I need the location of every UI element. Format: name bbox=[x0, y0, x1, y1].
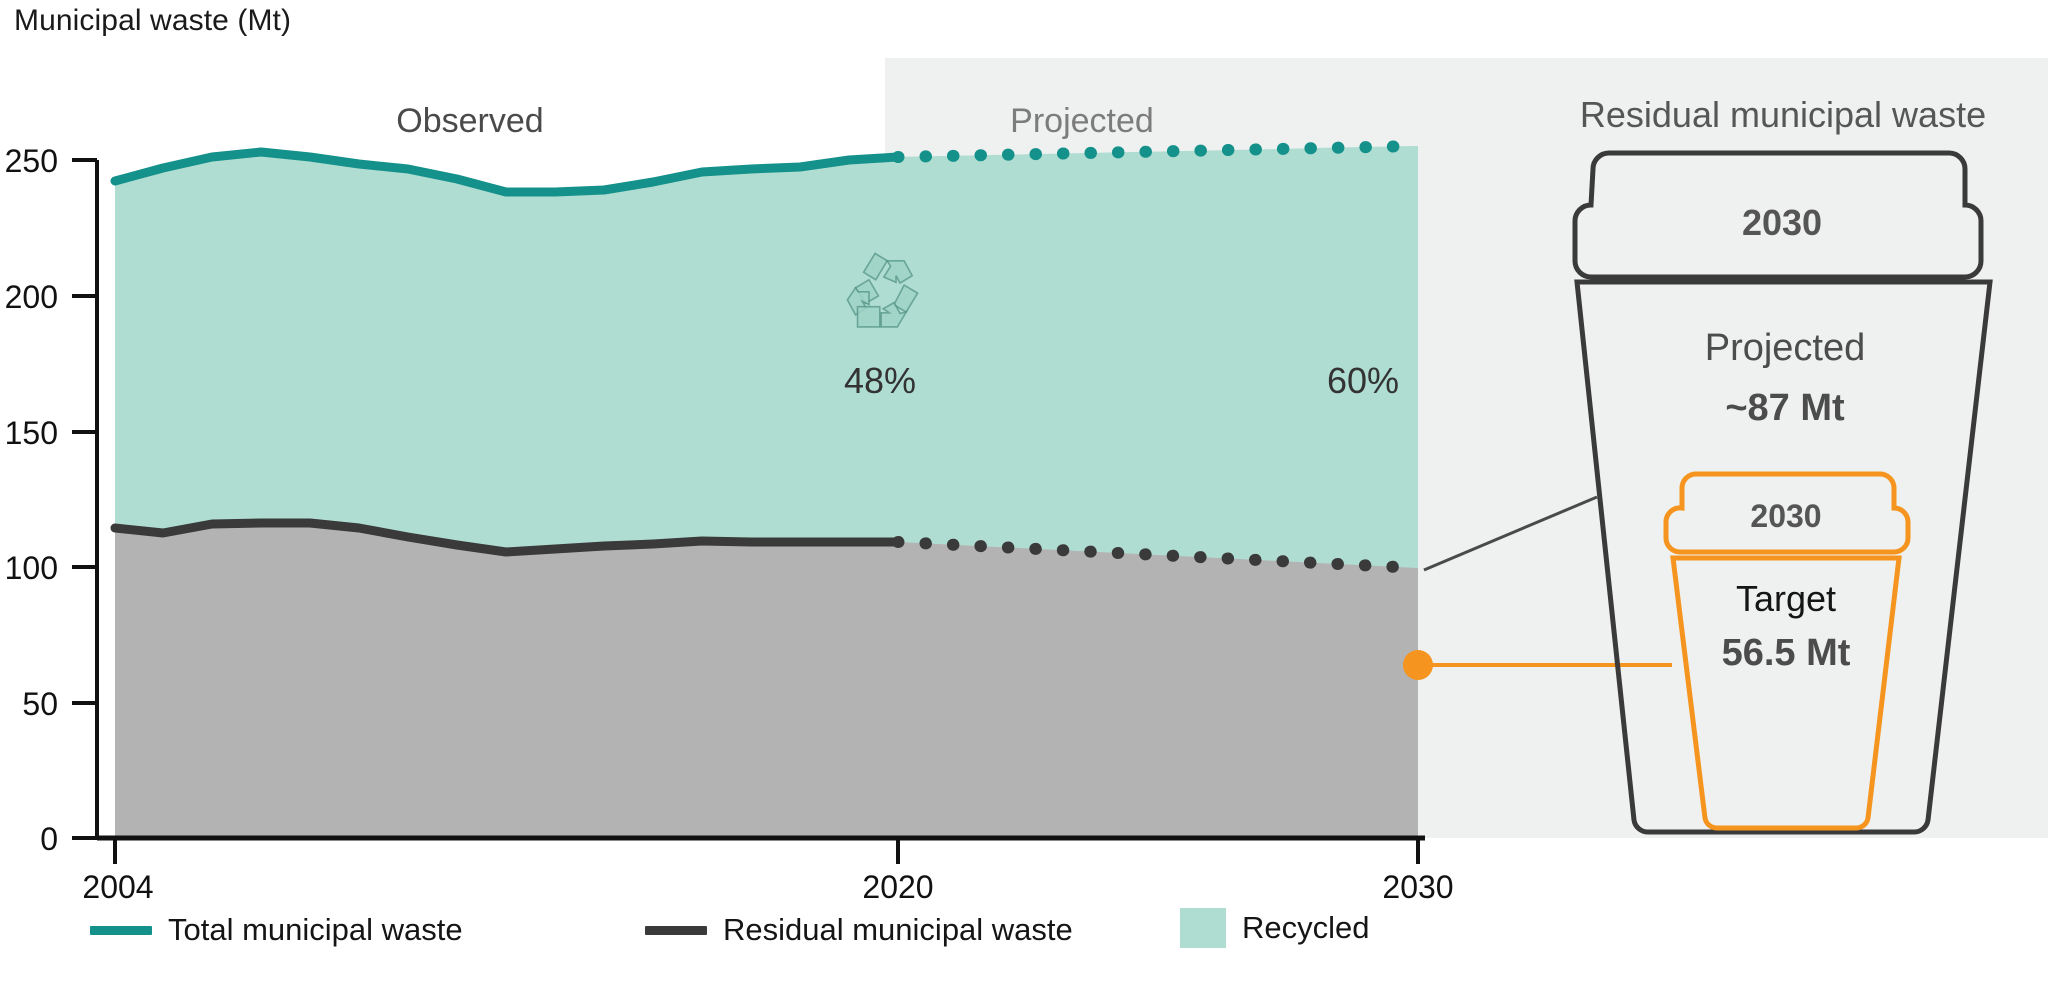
observed-label: Observed bbox=[396, 102, 543, 140]
y-tick-label: 150 bbox=[5, 415, 58, 451]
chart-legend: Total municipal waste Residual municipal… bbox=[0, 912, 2048, 972]
bin-outer-year: 2030 bbox=[1742, 202, 1822, 243]
recycled-share-2030-label: 60% bbox=[1327, 360, 1399, 401]
right-panel-title: Residual municipal waste bbox=[1580, 94, 1986, 135]
chart-root: Municipal waste (Mt) bbox=[0, 0, 2048, 993]
residual-area-observed bbox=[115, 523, 898, 838]
x-tick-label: 2004 bbox=[82, 869, 153, 905]
target-marker-dot bbox=[1403, 650, 1433, 680]
legend-label-total: Total municipal waste bbox=[168, 912, 463, 948]
recycled-area-observed bbox=[115, 152, 898, 552]
residual-area-projected-fix bbox=[898, 542, 1418, 838]
bin-inner-value: 56.5 Mt bbox=[1722, 632, 1851, 674]
legend-swatch-total-line bbox=[90, 926, 152, 935]
x-ticks bbox=[115, 838, 1418, 864]
bin-outer-value: ~87 Mt bbox=[1725, 387, 1845, 429]
legend-swatch-recycled bbox=[1180, 908, 1226, 948]
legend-item-recycled[interactable]: Recycled bbox=[1180, 908, 1370, 948]
y-tick-label: 200 bbox=[5, 279, 58, 315]
legend-item-residual[interactable]: Residual municipal waste bbox=[645, 912, 1073, 948]
bin-outer-caption: Projected bbox=[1705, 327, 1866, 369]
recycled-area-projected-fix bbox=[898, 146, 1418, 568]
legend-label-recycled: Recycled bbox=[1242, 910, 1370, 946]
legend-swatch-residual-line bbox=[645, 926, 707, 935]
y-tick-label: 50 bbox=[22, 686, 58, 722]
legend-label-residual: Residual municipal waste bbox=[723, 912, 1073, 948]
legend-item-total[interactable]: Total municipal waste bbox=[90, 912, 463, 948]
bin-inner-year: 2030 bbox=[1750, 498, 1821, 534]
y-tick-label: 250 bbox=[5, 143, 58, 179]
bin-inner-caption: Target bbox=[1736, 578, 1836, 619]
y-tick-label: 100 bbox=[5, 550, 58, 586]
y-tick-label: 0 bbox=[40, 821, 58, 857]
x-tick-label: 2020 bbox=[862, 869, 933, 905]
y-ticks bbox=[72, 160, 97, 838]
y-tick-labels: 250 200 150 100 50 0 bbox=[5, 143, 58, 857]
x-tick-labels: 2004 2020 2030 bbox=[82, 869, 1453, 905]
projected-label: Projected bbox=[1010, 102, 1154, 140]
recycled-share-2020-label: 48% bbox=[844, 360, 916, 401]
x-tick-label: 2030 bbox=[1382, 869, 1453, 905]
chart-canvas: 250 200 150 100 50 0 2004 2020 2030 Obse… bbox=[0, 0, 2048, 993]
